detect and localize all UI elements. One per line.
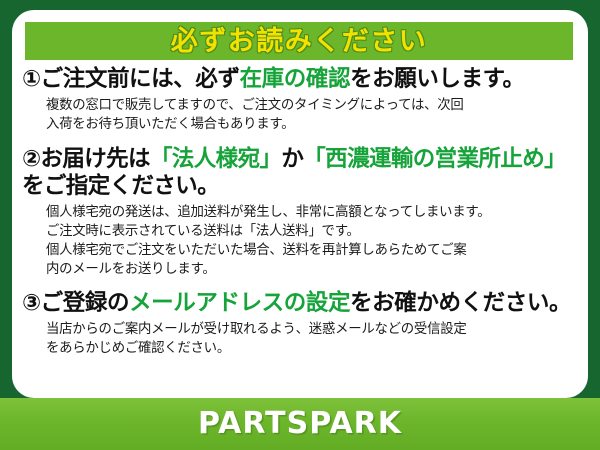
- notice-panel: 必ずお読みください ①ご注文前には、必ず在庫の確認をお願いします。 複数の窓口で…: [12, 10, 588, 398]
- item-3-heading: ③ご登録のメールアドレスの設定をお確かめください。: [22, 290, 580, 318]
- item-3-marker: ③: [22, 290, 41, 316]
- item-3-heading-highlight: メールアドレスの設定: [129, 290, 350, 316]
- brand-logo-text: PARTSPARK: [198, 409, 402, 439]
- item-3-heading-part-0: ご登録の: [41, 290, 129, 316]
- notice-items: ①ご注文前には、必ず在庫の確認をお願いします。 複数の窓口で販売してますので、ご…: [12, 66, 588, 358]
- notice-item-1: ①ご注文前には、必ず在庫の確認をお願いします。 複数の窓口で販売してますので、ご…: [22, 66, 580, 134]
- item-2-heading-part-4: をご指定ください。: [22, 173, 219, 199]
- item-1-heading-part-2: をお願いします。: [350, 66, 525, 92]
- item-1-heading-part-0: ご注文前には、必ず: [41, 66, 240, 92]
- item-1-heading: ①ご注文前には、必ず在庫の確認をお願いします。: [22, 66, 580, 94]
- item-1-body: 複数の窓口で販売してますので、ご注文のタイミングによっては、次回 入荷をお待ち頂…: [22, 96, 580, 134]
- item-2-heading-part-2: か: [281, 146, 303, 172]
- item-2-marker: ②: [22, 146, 40, 172]
- banner-title: 必ずお読みください: [171, 28, 428, 55]
- item-2-body: 個人様宅宛の発送は、追加送料が発生し、非常に高額となってしまいます。 ご注文時に…: [22, 203, 580, 279]
- item-2-heading-part-0: お届け先は: [40, 146, 150, 172]
- item-3-body: 当店からのご案内メールが受け取れるよう、迷惑メールなどの受信設定 をあらかじめご…: [22, 320, 580, 358]
- brand-footer: PARTSPARK: [0, 398, 600, 450]
- notice-item-2: ②お届け先は「法人様宛」か「西濃運輸の営業所止め」をご指定ください。 個人様宅宛…: [22, 146, 580, 279]
- item-1-marker: ①: [22, 66, 41, 92]
- notice-frame: 必ずお読みください ①ご注文前には、必ず在庫の確認をお願いします。 複数の窓口で…: [0, 0, 600, 450]
- notice-banner: 必ずお読みください: [25, 22, 573, 60]
- item-2-heading-highlight-2: 「西濃運輸の営業所止め」: [303, 146, 566, 172]
- item-3-heading-part-2: をお確かめください。: [350, 290, 571, 316]
- item-2-heading: ②お届け先は「法人様宛」か「西濃運輸の営業所止め」をご指定ください。: [22, 146, 580, 201]
- notice-item-3: ③ご登録のメールアドレスの設定をお確かめください。 当店からのご案内メールが受け…: [22, 290, 580, 358]
- item-1-heading-highlight: 在庫の確認: [240, 66, 351, 92]
- item-2-heading-highlight-1: 「法人様宛」: [150, 146, 281, 172]
